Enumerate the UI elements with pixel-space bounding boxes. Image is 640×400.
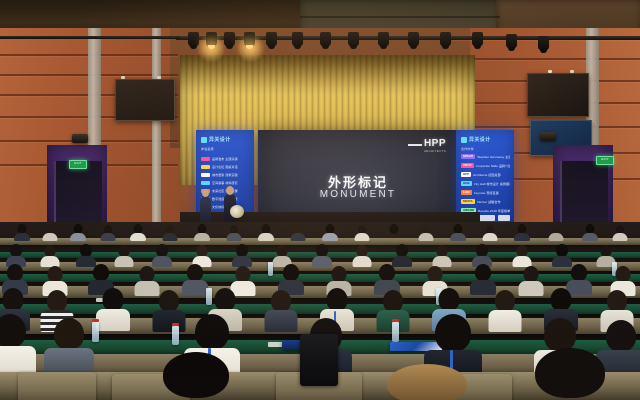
list-item-chip: ADCC	[461, 163, 474, 168]
exit-sign-label: EXIT	[70, 161, 86, 166]
attendee	[192, 245, 211, 266]
wall-monitor-left	[115, 79, 175, 121]
spotlight-icon	[224, 32, 235, 46]
spotlight-icon	[206, 32, 217, 46]
water-bottle	[172, 326, 179, 345]
spotlight-icon	[188, 32, 199, 46]
monitor-mount	[548, 70, 552, 73]
list-item-text: Corporate Slide 品牌介绍	[476, 164, 510, 168]
list-item-text: Architects 德国总部	[473, 173, 501, 177]
attendee-foreground	[148, 352, 244, 400]
spotlight-icon	[472, 32, 483, 46]
list-item-text: Keynote 现场直播	[474, 191, 499, 195]
attendee	[432, 245, 451, 266]
list-item: 空间叙事 材料研究	[201, 180, 250, 185]
spotlight-icon	[440, 32, 451, 46]
attendee	[392, 244, 412, 266]
attendee	[42, 225, 57, 240]
curtain-top-shadow	[180, 55, 475, 95]
list-item-text: 城市更新 建筑实践	[212, 173, 238, 177]
seat	[18, 372, 96, 400]
monitor-mount	[157, 76, 161, 79]
side-heading-text: 异关设计	[469, 136, 491, 143]
attendee	[312, 244, 332, 266]
wall-monitor-right-upper	[527, 73, 589, 117]
list-item: 设计论坛 圆桌对话	[201, 164, 250, 169]
attendee	[354, 225, 369, 240]
attendee	[70, 224, 86, 240]
list-item-text: 空间叙事 材料研究	[212, 181, 238, 185]
list-item: ADCC Corporate Slide 品牌介绍	[461, 163, 510, 168]
lighting-truss-left	[0, 36, 180, 39]
attendee	[548, 225, 563, 240]
attendee	[290, 225, 305, 240]
exit-sign-left: EXIT	[69, 160, 87, 169]
exit-sign-label: EXIT	[597, 157, 613, 162]
brand-mark-icon	[201, 137, 207, 143]
spotlight-icon	[244, 32, 255, 46]
attendee	[552, 244, 572, 266]
attendee	[352, 245, 371, 266]
partner-logo-icon	[498, 215, 510, 221]
presenter-head	[226, 186, 234, 195]
attendee	[44, 318, 94, 380]
attendee	[582, 224, 598, 240]
side-subheading: 合作伙伴	[461, 147, 474, 151]
list-item-text: 设计论坛 圆桌对话	[212, 165, 238, 169]
attendee	[264, 290, 297, 331]
presenter-head	[202, 189, 209, 197]
presenter-left	[200, 196, 211, 222]
list-item: LIVE Keynote 现场直播	[461, 190, 510, 195]
spotlight-icon	[378, 32, 389, 46]
attendee	[114, 245, 133, 266]
attendee	[162, 225, 177, 240]
attendee	[322, 224, 338, 240]
attendee	[386, 224, 402, 240]
spotlight-icon	[408, 32, 419, 46]
attendee	[472, 244, 492, 266]
attendee	[258, 224, 274, 240]
auditorium-photo: EXIT EXIT HPP ARCHITECTS 外形标记 MONUMENT 异…	[0, 0, 640, 400]
audience-area	[0, 222, 640, 400]
attendee-foreground	[520, 348, 620, 400]
attendee	[6, 244, 26, 266]
list-item-chip: LIVE	[461, 190, 472, 195]
water-bottle	[392, 322, 399, 342]
attendee	[152, 244, 172, 266]
side-screen-heading-left: 异关设计	[201, 136, 250, 143]
spotlight-icon	[348, 32, 359, 46]
attendee	[100, 225, 115, 240]
attendee	[96, 288, 130, 330]
attendee	[272, 245, 291, 266]
list-item-text: Partner 战略合作	[477, 200, 501, 204]
list-item: SPEAK Stephen Hennessy 主题演讲嘉宾	[461, 154, 510, 159]
spotlight-icon	[506, 34, 517, 48]
attendee	[0, 314, 36, 378]
hpp-logo-subtitle: ARCHITECTS	[424, 149, 446, 153]
attendee	[152, 290, 185, 331]
attendee	[612, 225, 627, 240]
bag-foreground	[300, 334, 338, 386]
spotlight-icon	[266, 32, 277, 46]
spotlight-icon	[320, 32, 331, 46]
list-item: HUB City Hall 城市设计 案例展示	[461, 181, 510, 186]
attendee	[76, 244, 96, 266]
attendee	[450, 224, 466, 240]
partner-logo-icon	[478, 215, 496, 221]
attendee	[40, 245, 59, 266]
monitor-mount	[121, 76, 125, 79]
list-item-chip: HPP	[461, 172, 471, 177]
logo-rule	[408, 144, 422, 146]
attendee-foreground	[372, 364, 482, 400]
speaker-icon	[540, 132, 556, 141]
side-heading-text: 异关设计	[209, 136, 231, 143]
attendee	[418, 225, 433, 240]
list-item-chip: HUB	[461, 181, 472, 186]
list-item: 品牌发布 主题演讲	[201, 156, 250, 161]
spotlight-icon	[292, 32, 303, 46]
ceiling-beam	[300, 16, 500, 18]
side-subheading: 参会嘉宾	[201, 147, 214, 151]
list-item-chip: SPEAK	[461, 154, 475, 159]
attendee	[232, 244, 252, 266]
list-item: 城市更新 建筑实践	[201, 172, 250, 177]
exit-sign-right: EXIT	[596, 156, 614, 165]
list-item-text: 品牌发布 主题演讲	[212, 157, 238, 161]
attendee	[194, 224, 210, 240]
water-bottle	[268, 262, 273, 276]
side-screen-heading-right: 异关设计	[461, 136, 510, 143]
speaker-icon	[72, 134, 88, 143]
list-item-text: Stephen Hennessy 主题演讲嘉宾	[477, 155, 510, 159]
hpp-logo: HPP	[424, 138, 446, 149]
list-item-text: Results 2018 年度榜单	[478, 209, 510, 213]
attendee	[488, 290, 521, 331]
attendee	[514, 224, 530, 240]
monitor-mount	[570, 70, 574, 73]
attendee	[14, 224, 30, 240]
attendee	[512, 245, 531, 266]
wall-groove	[452, 58, 640, 60]
attendee	[482, 225, 497, 240]
brand-mark-icon	[461, 137, 467, 143]
attendee	[130, 224, 146, 240]
list-item-text: City Hall 城市设计 案例展示	[474, 182, 511, 186]
attendee	[518, 266, 543, 295]
list-item-chip: MEDIA	[461, 199, 475, 204]
attendee	[182, 264, 208, 294]
list-item: HPP Architects 德国总部	[461, 172, 510, 177]
flower-bouquet	[230, 205, 244, 218]
slide-title-en: MONUMENT	[258, 189, 458, 200]
attendee	[226, 225, 241, 240]
list-item: MEDIA Partner 战略合作	[461, 199, 510, 204]
spotlight-icon	[538, 36, 549, 50]
